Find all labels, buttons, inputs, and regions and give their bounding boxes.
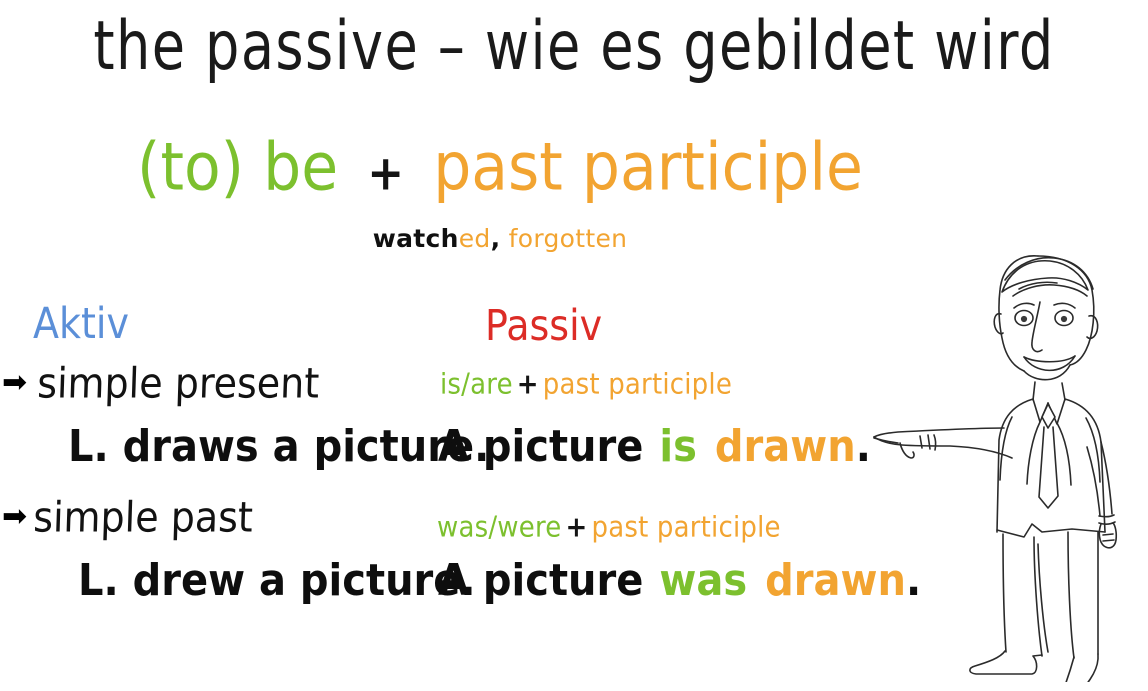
fist-knuckle-2 <box>1103 540 1114 541</box>
passive-pattern-simple-present: is/are+past participle <box>440 368 732 401</box>
pattern-participle-past: past participle <box>591 511 780 544</box>
passive-sentence-simple-past: A picturewasdrawn. <box>438 557 921 605</box>
passive-participle-present: drawn <box>697 422 856 472</box>
lapel-right <box>1057 423 1071 485</box>
cuff-line-2 <box>928 435 930 449</box>
neck-left <box>1033 382 1035 400</box>
formula-be: (to) be <box>137 129 338 206</box>
pattern-participle-present: past participle <box>543 368 732 401</box>
right-cuff-top <box>1099 515 1114 517</box>
tie-body <box>1039 427 1058 508</box>
page-title: the passive – wie es gebildet wird <box>34 2 1113 91</box>
example-ending: ed <box>459 224 491 253</box>
passive-formula: (to) be + past participle <box>0 128 1000 214</box>
active-column-heading: Aktiv <box>33 300 129 347</box>
tense-label-simple-present: simple present <box>37 360 320 406</box>
tie-knot <box>1042 404 1055 428</box>
passive-subject-past: A picture <box>438 556 643 606</box>
trouser-right-inner <box>1068 532 1074 658</box>
right-eyebrow <box>1054 303 1075 308</box>
lapel-left <box>1027 422 1040 484</box>
formula-plus-sign: + <box>357 146 414 202</box>
pattern-aux-past: was/were <box>437 511 561 544</box>
jacket-left-shoulder <box>997 399 1033 532</box>
man-pointing-left-illustration <box>872 232 1148 682</box>
right-fist <box>1099 523 1116 548</box>
passive-sentence-simple-present: A pictureisdrawn. <box>438 423 871 471</box>
left-shoe <box>970 651 1042 674</box>
bullet-arrow-icon-simple-past: ➡ <box>2 502 27 532</box>
pattern-aux-present: is/are <box>440 368 513 401</box>
pattern-plus-present: + <box>513 368 543 401</box>
fist-knuckle-1 <box>1103 534 1113 535</box>
formula-past-participle: past participle <box>433 129 863 206</box>
passive-aux-past: was <box>643 556 747 606</box>
left-pupil <box>1021 316 1027 322</box>
pattern-plus-past: + <box>561 511 591 544</box>
passive-period-present: . <box>856 422 871 472</box>
participle-examples: watched, forgotten <box>0 224 1000 254</box>
passive-column-heading: Passiv <box>485 302 602 349</box>
example-comma: , <box>491 224 501 253</box>
right-shoe <box>1063 654 1098 682</box>
nose <box>1032 302 1042 352</box>
passive-pattern-simple-past: was/were+past participle <box>437 511 781 544</box>
tense-label-simple-past: simple past <box>33 494 254 540</box>
trouser-left-outer <box>1003 534 1006 652</box>
arm-top-line <box>874 428 1004 437</box>
left-eyebrow <box>1014 303 1034 308</box>
lip-line <box>1024 356 1075 362</box>
jacket-hem <box>997 524 1105 537</box>
neck-right <box>1062 383 1065 400</box>
active-sentence-simple-past: L. drew a picture. <box>78 557 476 605</box>
arm-bottom-line <box>874 437 1012 458</box>
active-sentence-simple-present: L. draws a picture. <box>68 423 489 471</box>
bullet-arrow-icon-simple-present: ➡ <box>2 368 27 398</box>
example-irregular: forgotten <box>509 224 628 253</box>
passive-subject-present: A picture <box>438 422 643 472</box>
right-pupil <box>1061 316 1067 322</box>
example-stem: watch <box>373 224 459 253</box>
passive-aux-present: is <box>643 422 697 472</box>
slide-canvas: the passive – wie es gebildet wird (to) … <box>0 0 1148 691</box>
cuff-line-3 <box>934 435 936 450</box>
